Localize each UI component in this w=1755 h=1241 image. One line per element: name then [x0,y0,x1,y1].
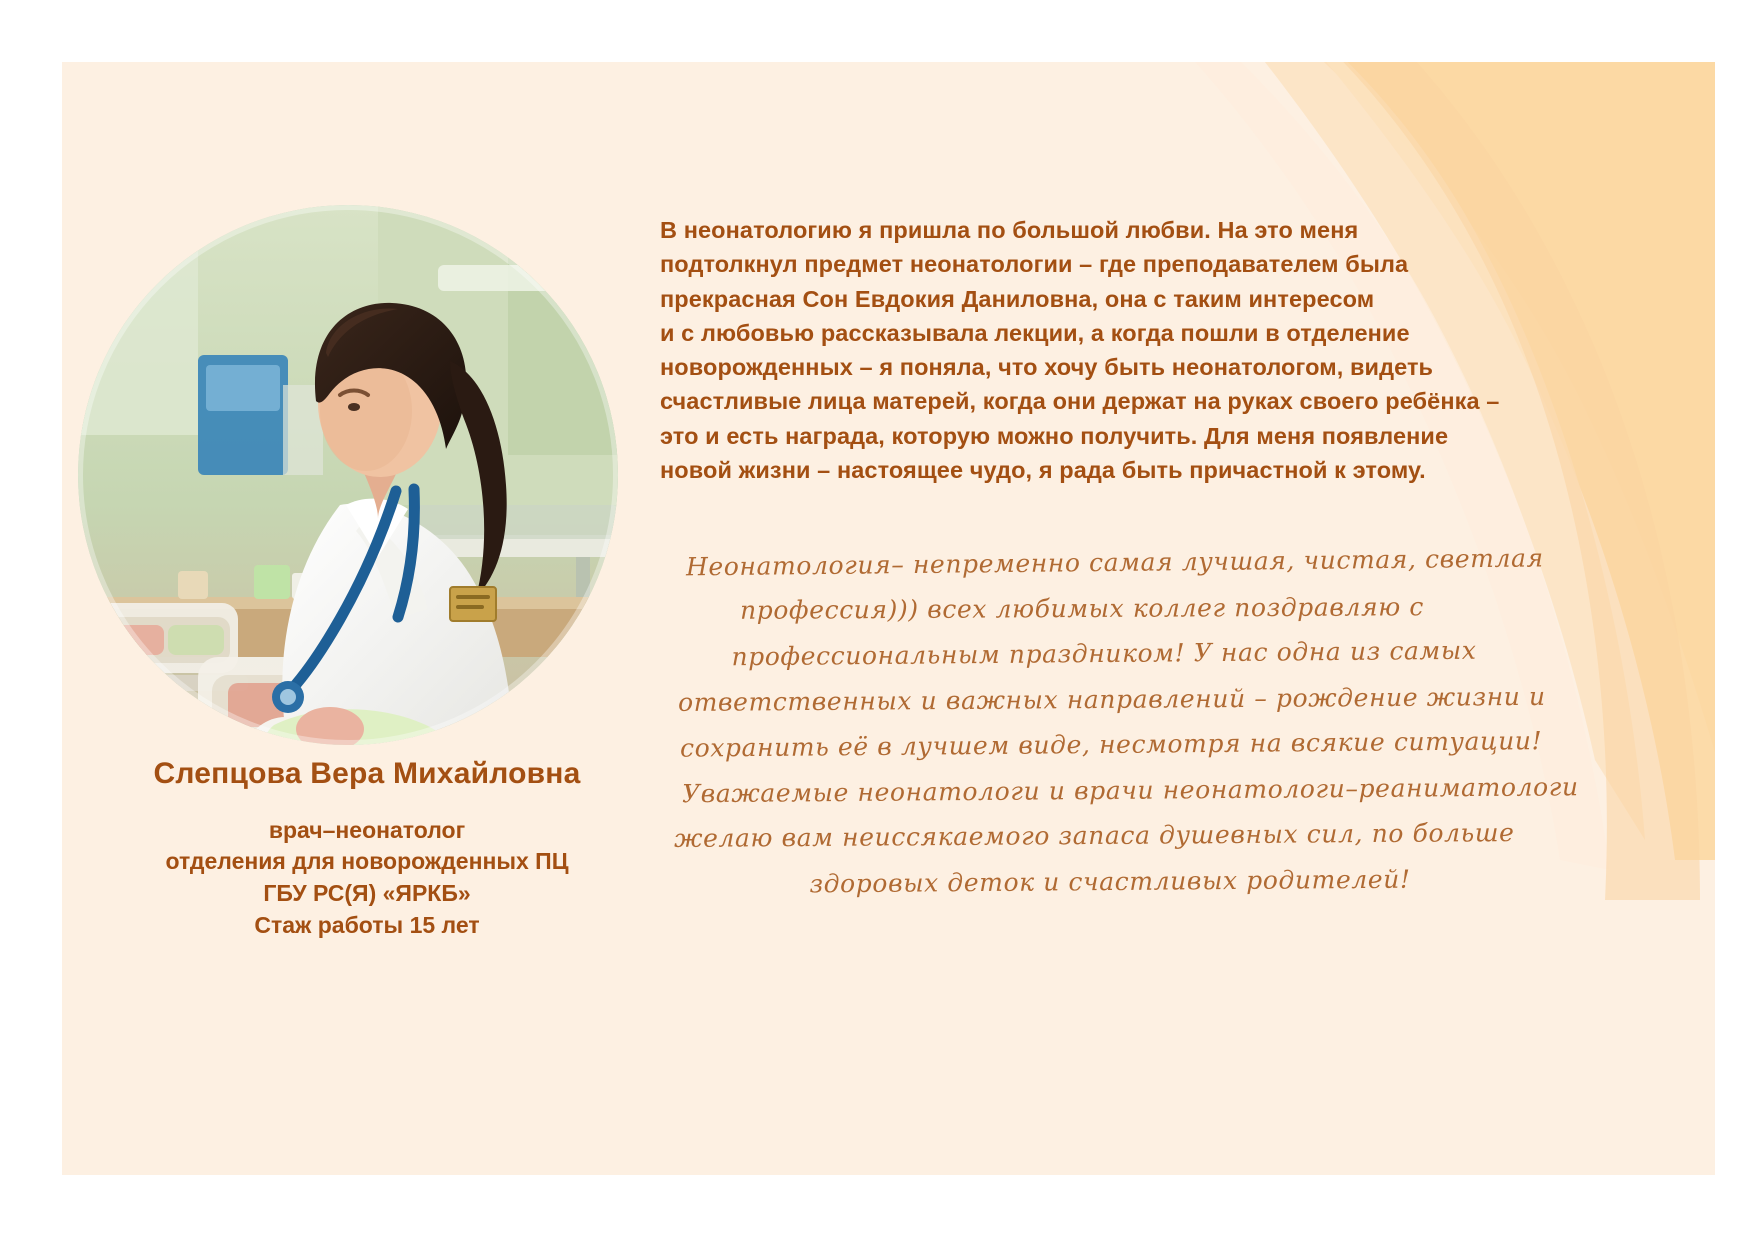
intro-line-1: В неонатологию я пришла по большой любви… [660,213,1500,247]
handwriting-line-1: Неонатология– непременно самая лучшая, ч… [686,536,1526,590]
handwritten-greeting-block: Неонатология– непременно самая лучшая, ч… [680,540,1520,904]
handwriting-line-6: Уважаемые неонатологи и врачи неонатолог… [682,764,1522,816]
intro-line-7: это и есть награда, которую можно получи… [660,419,1500,453]
intro-line-2: подтолкнул предмет неонатологии – где пр… [660,247,1500,281]
doctor-caption-block: Слепцова Вера Михайловна врач–неонатолог… [62,755,672,941]
intro-paragraph-block: В неонатологию я пришла по большой любви… [660,213,1500,487]
handwriting-line-5: сохранить её в лучшем виде, несмотря на … [680,718,1520,771]
caption-line-department: отделения для новорожденных ПЦ [62,846,672,878]
portrait-illustration [78,205,618,745]
page-frame-right [1715,0,1755,1241]
doctor-name: Слепцова Вера Михайловна [62,755,672,793]
caption-line-experience: Стаж работы 15 лет [62,910,672,942]
caption-line-institution: ГБУ РС(Я) «ЯРКБ» [62,878,672,910]
page-frame-top [0,0,1755,62]
page-frame-left [0,0,62,1241]
greeting-card: Слепцова Вера Михайловна врач–неонатолог… [0,0,1755,1241]
handwriting-line-7: желаю вам неиссякаемого запаса душевных … [674,810,1514,861]
caption-line-role: врач–неонатолог [62,815,672,847]
intro-line-3: прекрасная Сон Евдокия Даниловна, она с … [660,282,1500,316]
handwriting-line-4: ответственных и важных направлений – рож… [678,674,1518,725]
doctor-portrait-photo [78,205,618,745]
handwriting-line-3: профессиональным праздником! У нас одна … [684,627,1524,680]
intro-line-8: новой жизни – настоящее чудо, я рада быт… [660,453,1500,487]
page-frame-bottom [0,1175,1755,1241]
intro-line-6: счастливые лица матерей, когда они держа… [660,384,1500,418]
intro-line-4: и с любовью рассказывала лекции, а когда… [660,316,1500,350]
handwriting-line-8: здоровых деток и счастливых родителей! [690,855,1530,907]
handwriting-line-2: профессия))) всех любимых коллег поздрав… [662,583,1502,633]
intro-line-5: новорожденных – я поняла, что хочу быть … [660,350,1500,384]
